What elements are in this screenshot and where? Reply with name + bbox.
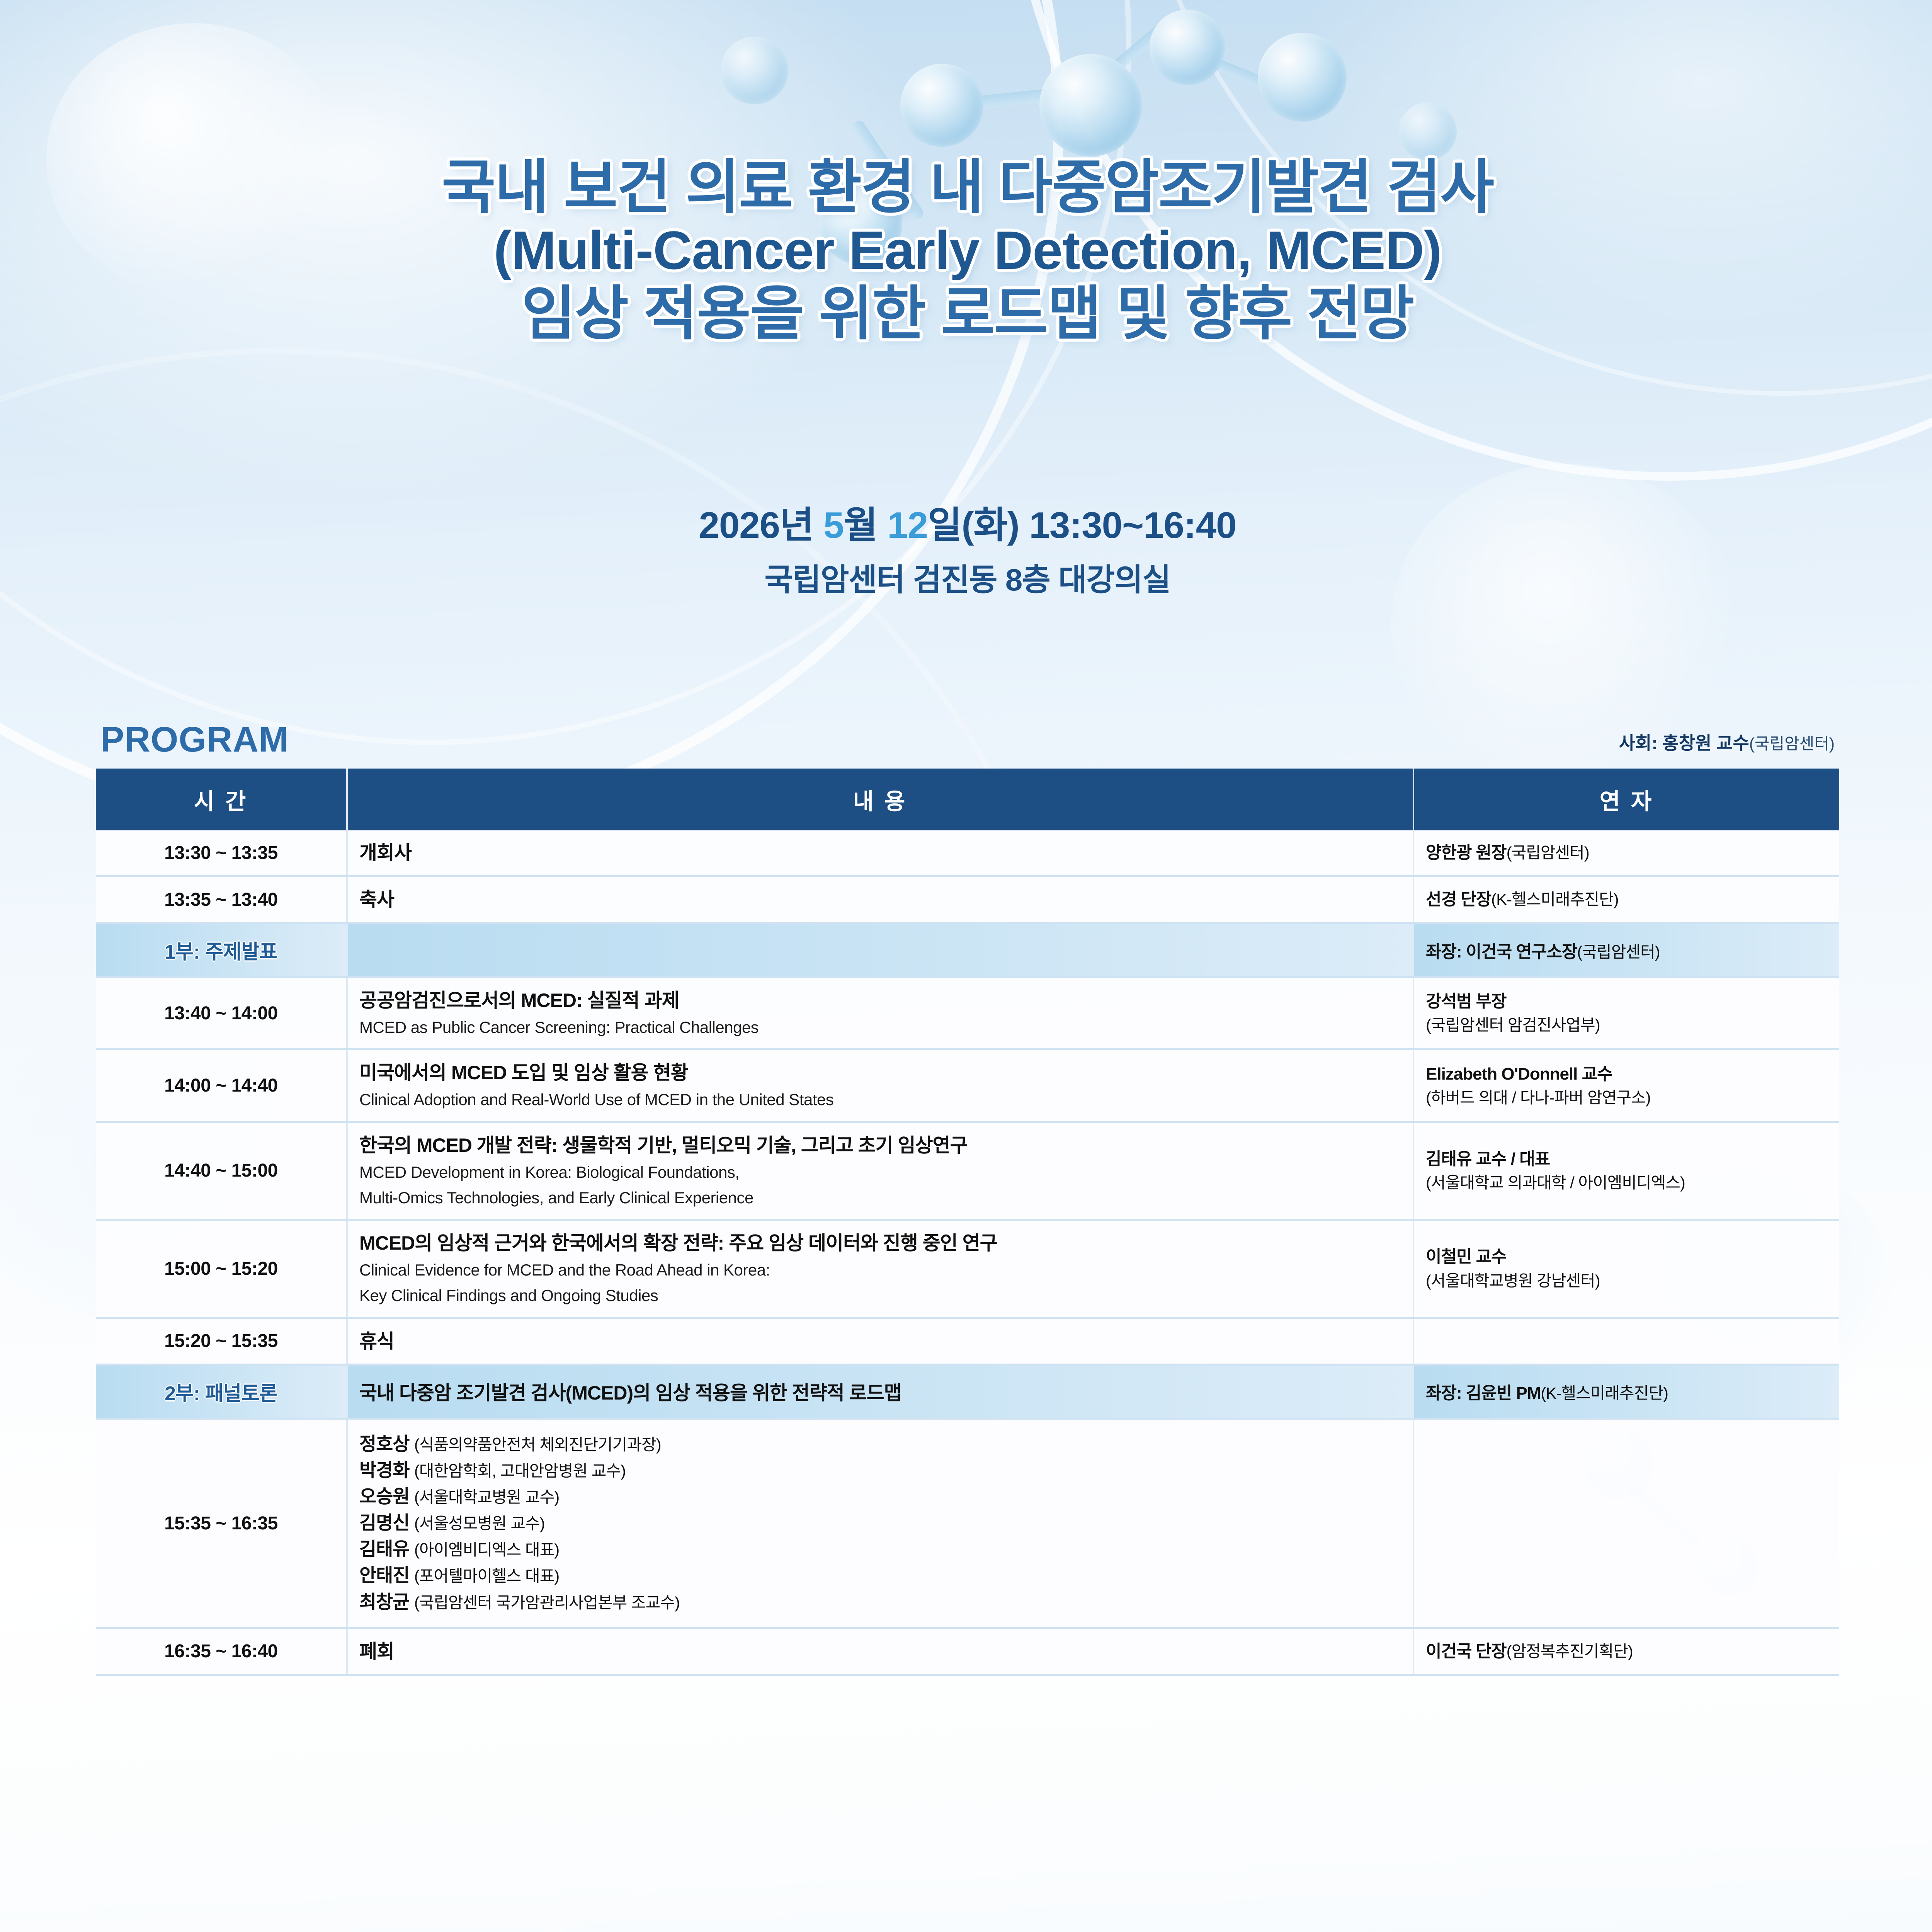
panelist-affiliation: (서울대학교병원 교수) (414, 1488, 559, 1506)
title-line-3: 임상 적용을 위한 로드맵 및 향후 전망 (0, 281, 1932, 347)
speaker-name: 이건국 단장 (1426, 1642, 1507, 1661)
panelist-item: 김명신 (서울성모병원 교수) (359, 1510, 1401, 1536)
program-table-body: 13:30 ~ 13:35개회사양한광 원장(국립암센터)13:35 ~ 13:… (96, 830, 1839, 1675)
host-name: 사회: 홍창원 교수 (1619, 733, 1749, 753)
program-card-header: PROGRAM 사회: 홍창원 교수(국립암센터) (96, 719, 1839, 769)
molecule-node (1258, 33, 1347, 122)
table-row: 1부: 주제발표좌장: 이건국 연구소장(국립암센터) (96, 923, 1839, 977)
speaker-name: 이철민 교수 (1426, 1247, 1507, 1266)
event-day: 12 (887, 505, 928, 546)
row-speaker-text: 강석범 부장(국립암센터 암검진사업부) (1426, 990, 1828, 1036)
row-title-ko: 휴식 (359, 1329, 1401, 1354)
panelist-name: 김명신 (359, 1513, 409, 1533)
row-time: 13:35 ~ 13:40 (96, 876, 347, 923)
panelist-affiliation: (서울성모병원 교수) (414, 1514, 545, 1532)
panelist-item: 오승원 (서울대학교병원 교수) (359, 1484, 1401, 1510)
row-speaker (1413, 1418, 1839, 1628)
event-month-unit: 월 (844, 505, 877, 546)
speaker-org: (암정복추진기획단) (1507, 1642, 1633, 1660)
row-speaker-text: 양한광 원장(국립암센터) (1426, 842, 1828, 864)
row-time: 15:35 ~ 16:35 (96, 1418, 347, 1628)
row-speaker: 이철민 교수(서울대학교병원 강남센터) (1413, 1220, 1839, 1318)
section-chair-org: (국립암센터) (1577, 943, 1660, 961)
section-topic-cell: 국내 다중암 조기발견 검사(MCED)의 임상 적용을 위한 전략적 로드맵 (347, 1364, 1413, 1418)
poster-title: 국내 보건 의료 환경 내 다중암조기발견 검사 (Multi-Cancer E… (0, 155, 1932, 347)
row-content: 미국에서의 MCED 도입 및 임상 활용 현황Clinical Adoptio… (347, 1049, 1413, 1122)
program-table-head: 시 간 내 용 연 자 (96, 769, 1839, 830)
row-content: 한국의 MCED 개발 전략: 생물학적 기반, 멀티오믹 기술, 그리고 초기… (347, 1122, 1413, 1220)
speaker-org: (국립암센터 암검진사업부) (1426, 1015, 1828, 1036)
section-label-cell: 1부: 주제발표 (96, 923, 347, 977)
row-time: 15:00 ~ 15:20 (96, 1220, 347, 1318)
panelist-item: 최창균 (국립암센터 국가암관리사업본부 조교수) (359, 1589, 1401, 1616)
table-row: 13:40 ~ 14:00공공암검진으로서의 MCED: 실질적 과제MCED … (96, 977, 1839, 1049)
row-title-ko: 폐회 (359, 1639, 1401, 1664)
section-topic-cell (347, 923, 1413, 977)
table-row: 15:35 ~ 16:35정호상 (식품의약품안전처 체외진단기기과장)박경화 … (96, 1418, 1839, 1628)
panelist-name: 정호상 (359, 1434, 409, 1454)
host-org: (국립암센터) (1749, 735, 1835, 753)
arc-left-2 (0, 0, 1131, 745)
event-day-unit: 일(화) (928, 505, 1019, 546)
section-chair: 좌장: 김윤빈 PM(K-헬스미래추진단) (1426, 1379, 1828, 1404)
section-label: 2부: 패널토론 (107, 1377, 335, 1406)
panelist-affiliation: (아이엠비디엑스 대표) (414, 1541, 559, 1559)
section-label-cell: 2부: 패널토론 (96, 1364, 347, 1418)
section-chair: 좌장: 이건국 연구소장(국립암센터) (1426, 938, 1828, 963)
row-title-ko: 한국의 MCED 개발 전략: 생물학적 기반, 멀티오믹 기술, 그리고 초기… (359, 1133, 1401, 1158)
row-title-en: Clinical Evidence for MCED and the Road … (359, 1259, 1401, 1281)
molecule-node (721, 37, 788, 104)
panelist-item: 김태유 (아이엠비디엑스 대표) (359, 1536, 1401, 1563)
row-time: 15:20 ~ 15:35 (96, 1318, 347, 1364)
section-topic: 국내 다중암 조기발견 검사(MCED)의 임상 적용을 위한 전략적 로드맵 (359, 1378, 1401, 1405)
row-speaker (1413, 1318, 1839, 1364)
row-title-en: Key Clinical Findings and Ongoing Studie… (359, 1285, 1401, 1306)
column-header-content: 내 용 (347, 769, 1413, 830)
row-time: 14:00 ~ 14:40 (96, 1049, 347, 1122)
row-speaker-text: 김태유 교수 / 대표(서울대학교 의과대학 / 아이엠비디엑스) (1426, 1148, 1828, 1194)
row-title-ko: 공공암검진으로서의 MCED: 실질적 과제 (359, 988, 1401, 1013)
row-title-en: Clinical Adoption and Real-World Use of … (359, 1089, 1401, 1111)
row-speaker-text: 이건국 단장(암정복추진기획단) (1426, 1640, 1828, 1662)
molecule-node (1039, 54, 1142, 156)
row-content: 개회사 (347, 830, 1413, 876)
panelist-item: 안태진 (포어텔마이헬스 대표) (359, 1563, 1401, 1589)
speaker-org: (하버드 의대 / 다나-파버 암연구소) (1426, 1087, 1828, 1109)
table-row: 15:00 ~ 15:20MCED의 임상적 근거와 한국에서의 확장 전략: … (96, 1220, 1839, 1318)
row-title-en: MCED as Public Cancer Screening: Practic… (359, 1017, 1401, 1038)
row-speaker: 이건국 단장(암정복추진기획단) (1413, 1628, 1839, 1675)
panelist-item: 정호상 (식품의약품안전처 체외진단기기과장) (359, 1431, 1401, 1458)
event-venue: 국립암센터 검진동 8층 대강의실 (0, 555, 1932, 600)
table-row: 16:35 ~ 16:40폐회이건국 단장(암정복추진기획단) (96, 1628, 1839, 1675)
speaker-name: 강석범 부장 (1426, 992, 1507, 1011)
molecule-bond (1063, 22, 1168, 112)
arc-left (0, 0, 1063, 832)
table-header-row: 시 간 내 용 연 자 (96, 769, 1839, 830)
panelist-name: 최창균 (359, 1592, 409, 1612)
speaker-name: 김태유 교수 / 대표 (1426, 1150, 1550, 1168)
title-line-2: (Multi-Cancer Early Detection, MCED) (0, 220, 1932, 281)
section-chair-cell: 좌장: 이건국 연구소장(국립암센터) (1413, 923, 1839, 977)
event-datetime: 2026년 5월 12일(화) 13:30~16:40 (0, 502, 1932, 549)
row-time: 13:30 ~ 13:35 (96, 830, 347, 876)
row-title-ko: 축사 (359, 887, 1401, 912)
molecule-node (900, 64, 983, 147)
panelist-name: 오승원 (359, 1486, 409, 1507)
row-panelists: 정호상 (식품의약품안전처 체외진단기기과장)박경화 (대한암학회, 고대안암병… (347, 1418, 1413, 1628)
panelist-name: 안태진 (359, 1565, 409, 1586)
row-time: 13:40 ~ 14:00 (96, 977, 347, 1049)
row-content: 휴식 (347, 1318, 1413, 1364)
molecule-bond (1161, 37, 1272, 91)
panelist-name: 박경화 (359, 1460, 409, 1481)
event-details: 2026년 5월 12일(화) 13:30~16:40 국립암센터 검진동 8층… (0, 502, 1932, 600)
row-title-en: Multi-Omics Technologies, and Early Clin… (359, 1187, 1401, 1209)
row-speaker-text: Elizabeth O'Donnell 교수(하버드 의대 / 다나-파버 암연… (1426, 1063, 1828, 1109)
table-row: 13:35 ~ 13:40축사선경 단장(K-헬스미래추진단) (96, 876, 1839, 923)
panelist-name: 김태유 (359, 1539, 409, 1560)
table-row: 14:40 ~ 15:00한국의 MCED 개발 전략: 생물학적 기반, 멀티… (96, 1122, 1839, 1220)
row-title-ko: 개회사 (359, 840, 1401, 865)
speaker-org: (서울대학교병원 강남센터) (1426, 1270, 1828, 1292)
section-label: 1부: 주제발표 (107, 935, 335, 964)
speaker-name: Elizabeth O'Donnell 교수 (1426, 1065, 1612, 1083)
panelist-affiliation: (포어텔마이헬스 대표) (414, 1567, 559, 1585)
speaker-name: 양한광 원장 (1426, 843, 1507, 862)
event-year: 2026년 (699, 505, 813, 546)
speaker-org: (서울대학교 의과대학 / 아이엠비디엑스) (1426, 1172, 1828, 1194)
speaker-org: (K-헬스미래추진단) (1491, 890, 1618, 908)
row-content: 축사 (347, 876, 1413, 923)
speaker-name: 선경 단장 (1426, 890, 1491, 909)
row-title-ko: 미국에서의 MCED 도입 및 임상 활용 현황 (359, 1060, 1401, 1085)
row-speaker: 강석범 부장(국립암센터 암검진사업부) (1413, 977, 1839, 1049)
row-speaker: Elizabeth O'Donnell 교수(하버드 의대 / 다나-파버 암연… (1413, 1049, 1839, 1122)
row-title-en: MCED Development in Korea: Biological Fo… (359, 1162, 1401, 1183)
row-speaker-text: 이철민 교수(서울대학교병원 강남센터) (1426, 1246, 1828, 1291)
table-row: 13:30 ~ 13:35개회사양한광 원장(국립암센터) (96, 830, 1839, 876)
event-month: 5 (823, 505, 844, 546)
molecule-node (1150, 10, 1225, 85)
row-time: 16:35 ~ 16:40 (96, 1628, 347, 1675)
panelist-affiliation: (대한암학회, 고대안암병원 교수) (414, 1462, 626, 1480)
panelist-affiliation: (식품의약품안전처 체외진단기기과장) (414, 1435, 661, 1454)
row-content: 폐회 (347, 1628, 1413, 1675)
molecule-node (1399, 102, 1457, 160)
row-title-ko: MCED의 임상적 근거와 한국에서의 확장 전략: 주요 임상 데이터와 진행… (359, 1231, 1401, 1255)
program-heading: PROGRAM (100, 719, 289, 760)
table-row: 15:20 ~ 15:35휴식 (96, 1318, 1839, 1364)
section-chair-org: (K-헬스미래추진단) (1541, 1384, 1668, 1402)
title-line-1: 국내 보건 의료 환경 내 다중암조기발견 검사 (0, 155, 1932, 220)
row-speaker: 김태유 교수 / 대표(서울대학교 의과대학 / 아이엠비디엑스) (1413, 1122, 1839, 1220)
molecule-bond (954, 87, 1070, 112)
table-row: 2부: 패널토론국내 다중암 조기발견 검사(MCED)의 임상 적용을 위한 … (96, 1364, 1839, 1418)
program-host: 사회: 홍창원 교수(국립암센터) (1619, 729, 1835, 760)
row-speaker-text: 선경 단장(K-헬스미래추진단) (1426, 888, 1828, 910)
panelist-affiliation: (국립암센터 국가암관리사업본부 조교수) (414, 1594, 680, 1612)
program-card: PROGRAM 사회: 홍창원 교수(국립암센터) 시 간 내 용 연 자 13… (96, 719, 1839, 1676)
section-chair-cell: 좌장: 김윤빈 PM(K-헬스미래추진단) (1413, 1364, 1839, 1418)
column-header-speaker: 연 자 (1413, 769, 1839, 830)
column-header-time: 시 간 (96, 769, 347, 830)
panelist-list: 정호상 (식품의약품안전처 체외진단기기과장)박경화 (대한암학회, 고대안암병… (359, 1430, 1401, 1617)
row-content: MCED의 임상적 근거와 한국에서의 확장 전략: 주요 임상 데이터와 진행… (347, 1220, 1413, 1318)
row-content: 공공암검진으로서의 MCED: 실질적 과제MCED as Public Can… (347, 977, 1413, 1049)
row-speaker: 선경 단장(K-헬스미래추진단) (1413, 876, 1839, 923)
row-time: 14:40 ~ 15:00 (96, 1122, 347, 1220)
panelist-item: 박경화 (대한암학회, 고대안암병원 교수) (359, 1458, 1401, 1484)
speaker-org: (국립암센터) (1507, 844, 1589, 862)
event-time: 13:30~16:40 (1029, 505, 1236, 546)
table-row: 14:00 ~ 14:40미국에서의 MCED 도입 및 임상 활용 현황Cli… (96, 1049, 1839, 1122)
poster-root: 국내 보건 의료 환경 내 다중암조기발견 검사 (Multi-Cancer E… (0, 0, 1932, 1932)
program-table: 시 간 내 용 연 자 13:30 ~ 13:35개회사양한광 원장(국립암센터… (96, 769, 1839, 1676)
row-speaker: 양한광 원장(국립암센터) (1413, 830, 1839, 876)
